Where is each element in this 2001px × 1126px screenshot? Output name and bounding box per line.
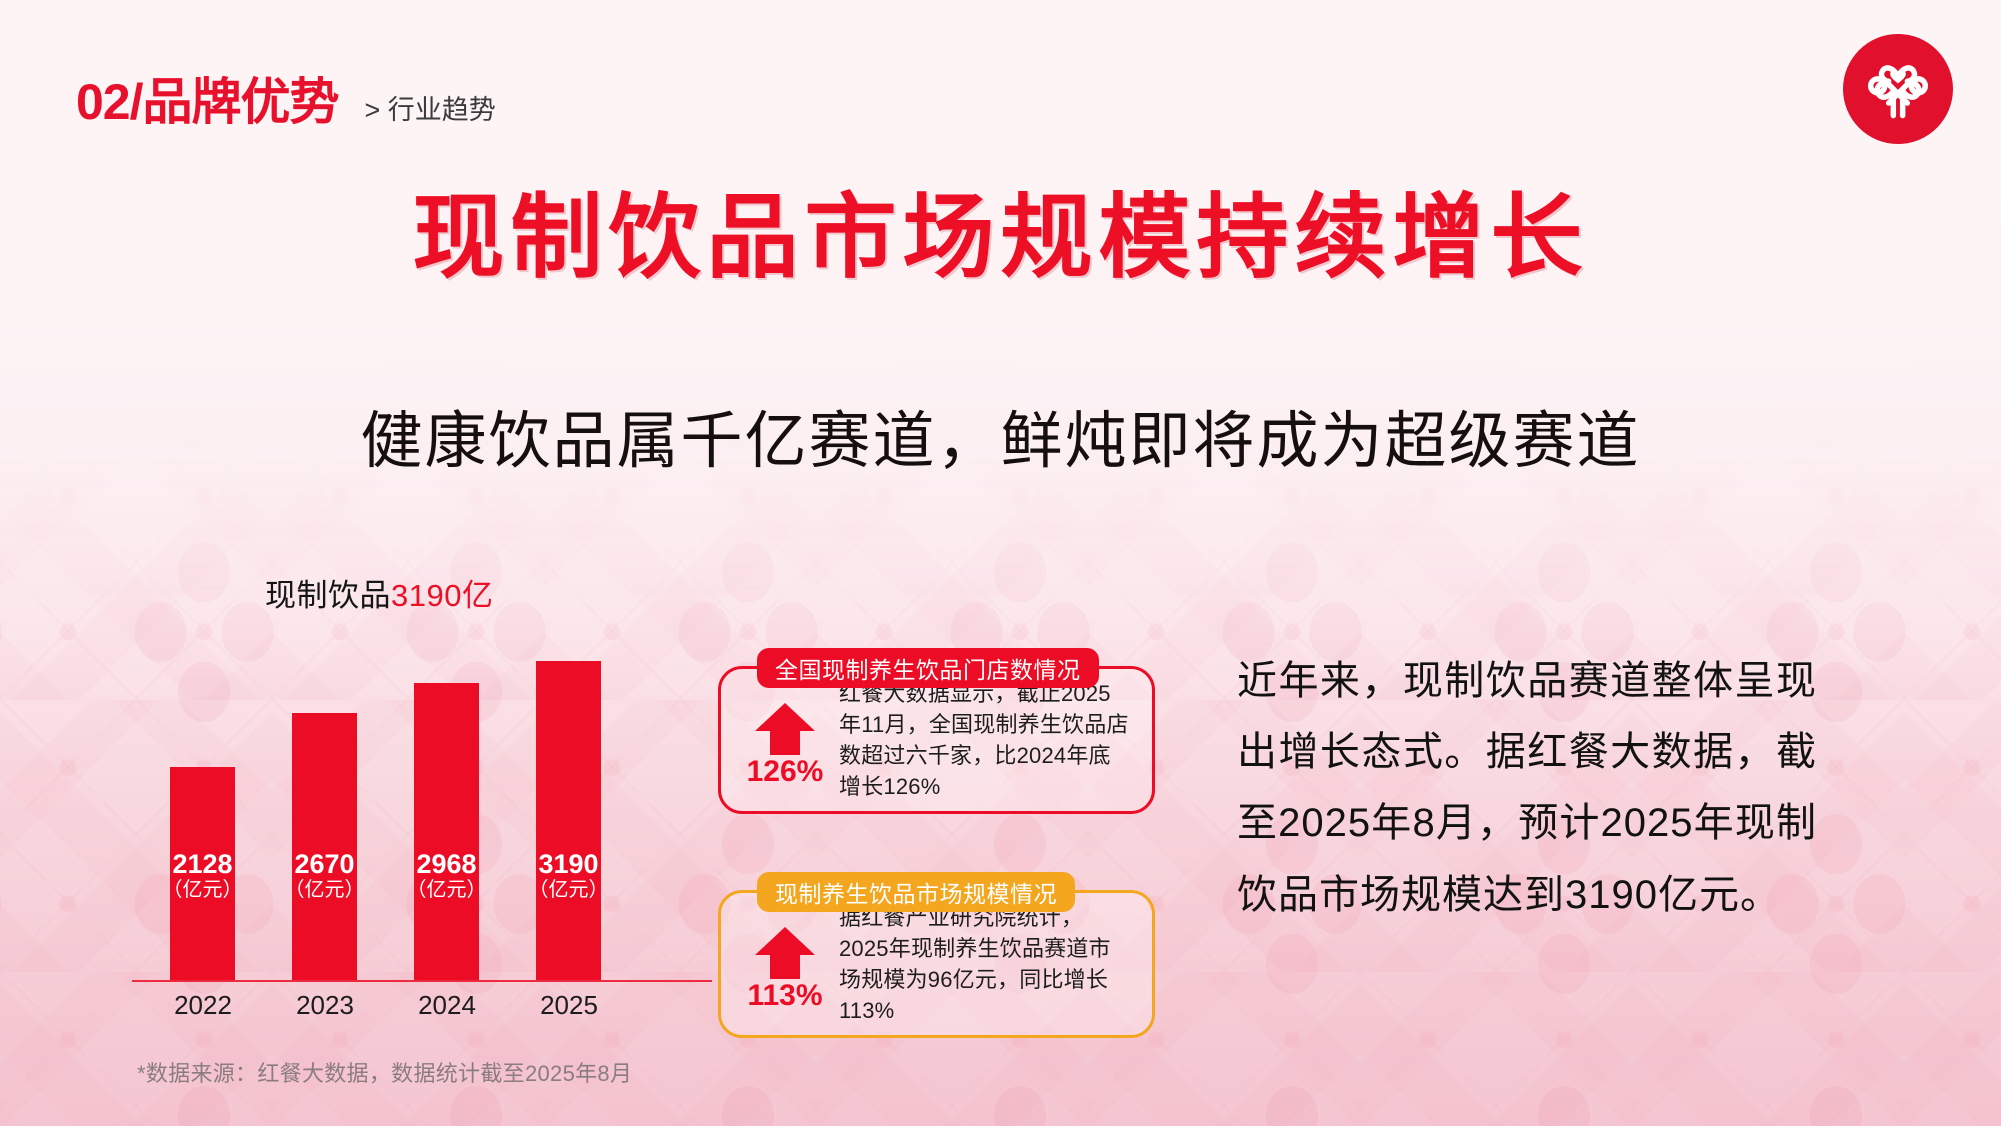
bar-unit-label: （亿元） — [163, 878, 243, 902]
x-axis-tick-label: 2025 — [519, 990, 619, 1021]
callout-text-market: 据红餐产业研究院统计，2025年现制养生饮品赛道市场规模为96亿元，同比增长11… — [835, 902, 1134, 1027]
section-number: 02/品牌优势 — [76, 62, 339, 134]
bar-value-label: 2670 — [294, 850, 354, 878]
chart-header: 现制饮品3190亿 — [150, 570, 690, 615]
body-paragraph: 近年来，现制饮品赛道整体呈现出增长态式。据红餐大数据，截至2025年8月，预计2… — [1237, 646, 1817, 931]
x-axis-tick-label: 2024 — [397, 990, 497, 1021]
bar: 3190（亿元） — [536, 661, 601, 980]
growth-percent-stores: 126% — [747, 757, 824, 787]
chart-title-prefix: 现制饮品 — [265, 578, 391, 613]
bar-unit-label: （亿元） — [285, 878, 365, 902]
arrow-up-icon — [753, 925, 817, 979]
growth-percent-market: 113% — [747, 981, 822, 1011]
bar-value-label: 3190 — [538, 850, 598, 878]
page-subtitle: 健康饮品属千亿赛道，鲜炖即将成为超级赛道 — [0, 390, 2001, 480]
source-note: *数据来源：红餐大数据，数据统计截至2025年8月 — [137, 1056, 632, 1088]
x-axis-tick-label: 2022 — [153, 990, 253, 1021]
chart-title-highlight: 3190亿 — [391, 578, 493, 613]
growth-indicator-stores: 126% — [735, 701, 835, 787]
bar-column: 2968（亿元） — [414, 683, 479, 980]
callout-text-stores: 红餐大数据显示，截止2025年11月，全国现制养生饮品店数超过六千家，比2024… — [835, 678, 1134, 803]
bar-unit-label: （亿元） — [529, 878, 609, 902]
bar: 2670（亿元） — [292, 713, 357, 980]
callout-card-stores[interactable]: 全国现制养生饮品门店数情况 126% 红餐大数据显示，截止2025年11月，全国… — [718, 666, 1155, 814]
arrow-up-icon — [753, 701, 817, 755]
bar-value-label: 2968 — [416, 850, 476, 878]
bar-column: 2670（亿元） — [292, 713, 357, 980]
callout-card-market[interactable]: 现制养生饮品市场规模情况 113% 据红餐产业研究院统计，2025年现制养生饮品… — [718, 890, 1155, 1038]
callout-pill-stores: 全国现制养生饮品门店数情况 — [757, 648, 1099, 688]
bar: 2968（亿元） — [414, 683, 479, 980]
page-title: 现制饮品市场规模持续增长 — [0, 190, 2001, 287]
bar-column: 3190（亿元） — [536, 661, 601, 980]
bar-unit-label: （亿元） — [407, 878, 487, 902]
bar-column: 2128（亿元） — [170, 767, 235, 980]
slide-canvas: 02/品牌优势 > 行业趋势 现制饮品市场规模持续增长 健康饮品属千亿赛道，鲜炖… — [0, 0, 2001, 1126]
brand-logo-icon — [1843, 34, 1953, 144]
x-axis-line — [132, 980, 712, 982]
bar-series: 2128（亿元）2670（亿元）2968（亿元）3190（亿元） — [150, 640, 695, 980]
x-axis-tick-label: 2023 — [275, 990, 375, 1021]
callout-pill-market: 现制养生饮品市场规模情况 — [757, 872, 1075, 912]
slide-header: 02/品牌优势 > 行业趋势 — [76, 62, 496, 134]
bar-value-label: 2128 — [172, 850, 232, 878]
growth-indicator-market: 113% — [735, 925, 835, 1011]
bar: 2128（亿元） — [170, 767, 235, 980]
chart-title: 现制饮品3190亿 — [265, 570, 690, 615]
breadcrumb: > 行业趋势 — [365, 88, 496, 127]
x-axis-labels: 2022202320242025 — [150, 990, 695, 1030]
bar-chart: 2128（亿元）2670（亿元）2968（亿元）3190（亿元） 2022202… — [150, 640, 695, 980]
